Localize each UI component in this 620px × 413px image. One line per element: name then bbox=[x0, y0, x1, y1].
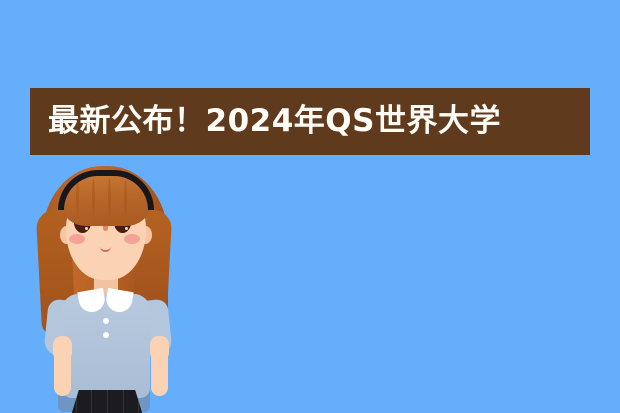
headline-banner: 最新公布！2024年QS世界大学 bbox=[30, 88, 590, 155]
eye-highlight-small-right bbox=[125, 227, 128, 230]
page-root: 最新公布！2024年QS世界大学 bbox=[0, 0, 620, 413]
shirt-button-top bbox=[103, 318, 109, 324]
hand-left bbox=[53, 336, 72, 362]
hand-right bbox=[150, 336, 169, 362]
blush-left bbox=[69, 234, 85, 244]
skirt-pleat-3 bbox=[107, 390, 108, 413]
headline-title: 最新公布！2024年QS世界大学 bbox=[48, 106, 501, 137]
blush-right bbox=[124, 234, 140, 244]
shirt-button-bottom bbox=[103, 332, 109, 338]
shirt bbox=[62, 294, 150, 398]
eye-highlight-small-left bbox=[85, 227, 88, 230]
skirt-pleat-2 bbox=[91, 390, 92, 413]
skirt-pleat-4 bbox=[123, 390, 124, 413]
schoolgirl-illustration bbox=[22, 158, 202, 413]
